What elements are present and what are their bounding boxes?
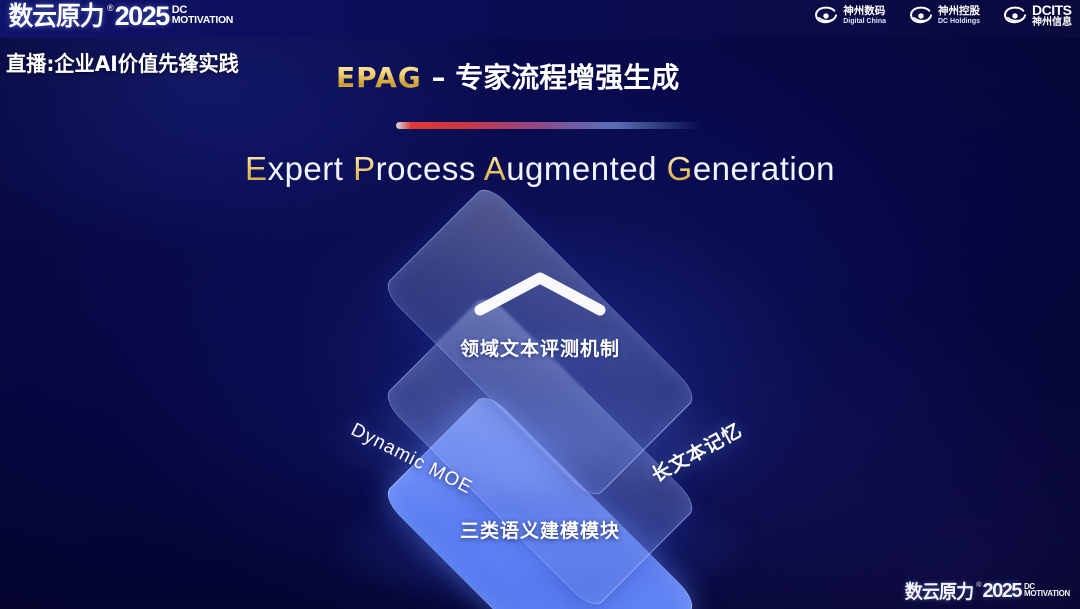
partner-label: 神州控股 DC Holdings: [938, 6, 980, 25]
watermark-year: 2025: [982, 581, 1021, 602]
watermark-registered-mark: ®: [976, 581, 981, 590]
spiral-icon: [1002, 5, 1028, 27]
spiral-icon: [813, 5, 839, 27]
diagram-label-bottom: 三类语义建模模块: [460, 516, 620, 543]
partner-name-cn: 神州信息: [1032, 18, 1072, 28]
partner-label: DCITS 神州信息: [1032, 3, 1072, 28]
partner-logos: 神州数码 Digital China 神州控股 DC Holdings: [813, 3, 1072, 28]
subtitle-expansion: Expert Process Augmented Generation: [0, 150, 1080, 188]
subtitle-initial-a: A: [484, 150, 507, 187]
partner-logo-digital-china: 神州数码 Digital China: [813, 5, 886, 27]
slide-background: 数云原力 ® 2025 DC MOTIVATION 直播:企业AI价值先锋实践 …: [0, 0, 1080, 609]
brand-dc-motivation: DC MOTIVATION: [172, 2, 233, 26]
brand-year: 2025: [115, 2, 169, 31]
partner-logo-dc-holdings: 神州控股 DC Holdings: [908, 5, 980, 27]
title-chinese: 专家流程增强生成: [455, 61, 679, 94]
partner-name-cn: 神州控股: [938, 6, 980, 17]
brand-name-cn: 数云原力: [9, 2, 104, 32]
partner-name-en: Digital China: [843, 18, 886, 25]
gradient-divider: [396, 122, 701, 129]
bottom-layer-glow: [330, 482, 750, 609]
watermark-dc-line2: MOTIVATION: [1024, 590, 1070, 598]
brand-watermark: 数云原力 ® 2025 DC MOTIVATION: [903, 581, 1070, 603]
subtitle-word-expert: xpert: [268, 150, 344, 187]
watermark-name-cn: 数云原力: [905, 581, 973, 603]
brand-dc-line2: MOTIVATION: [172, 15, 233, 26]
partner-label: 神州数码 Digital China: [843, 6, 886, 25]
partner-name-en: DCITS: [1032, 3, 1072, 17]
page-title: EPAG – 专家流程增强生成: [336, 56, 679, 96]
partner-name-en: DC Holdings: [938, 18, 980, 25]
subtitle-word-process: rocess: [376, 150, 476, 187]
partner-logo-dcits: DCITS 神州信息: [1002, 3, 1072, 28]
subtitle-initial-p: P: [353, 150, 376, 187]
brand-logo: 数云原力 ® 2025 DC MOTIVATION: [6, 2, 233, 32]
subtitle-initial-g: G: [667, 150, 693, 187]
subtitle-initial-e: E: [245, 150, 268, 187]
subtitle-word-augmented: ugmented: [506, 150, 657, 187]
live-stream-title: 直播:企业AI价值先锋实践: [6, 48, 239, 78]
layered-architecture-diagram: 领域文本评测机制 Dynamic MOE 长文本记忆 三类语义建模模块: [280, 232, 800, 572]
diagram-label-top: 领域文本评测机制: [460, 334, 620, 361]
title-acronym: EPAG: [336, 61, 422, 94]
title-dash: –: [422, 61, 456, 94]
chevron-up-icon: [470, 268, 610, 325]
watermark-dc-motivation: DC MOTIVATION: [1024, 581, 1070, 598]
partner-name-cn: 神州数码: [843, 6, 886, 17]
subtitle-word-generation: eneration: [693, 150, 835, 187]
brand-registered-mark: ®: [107, 2, 114, 14]
spiral-icon: [908, 5, 934, 27]
